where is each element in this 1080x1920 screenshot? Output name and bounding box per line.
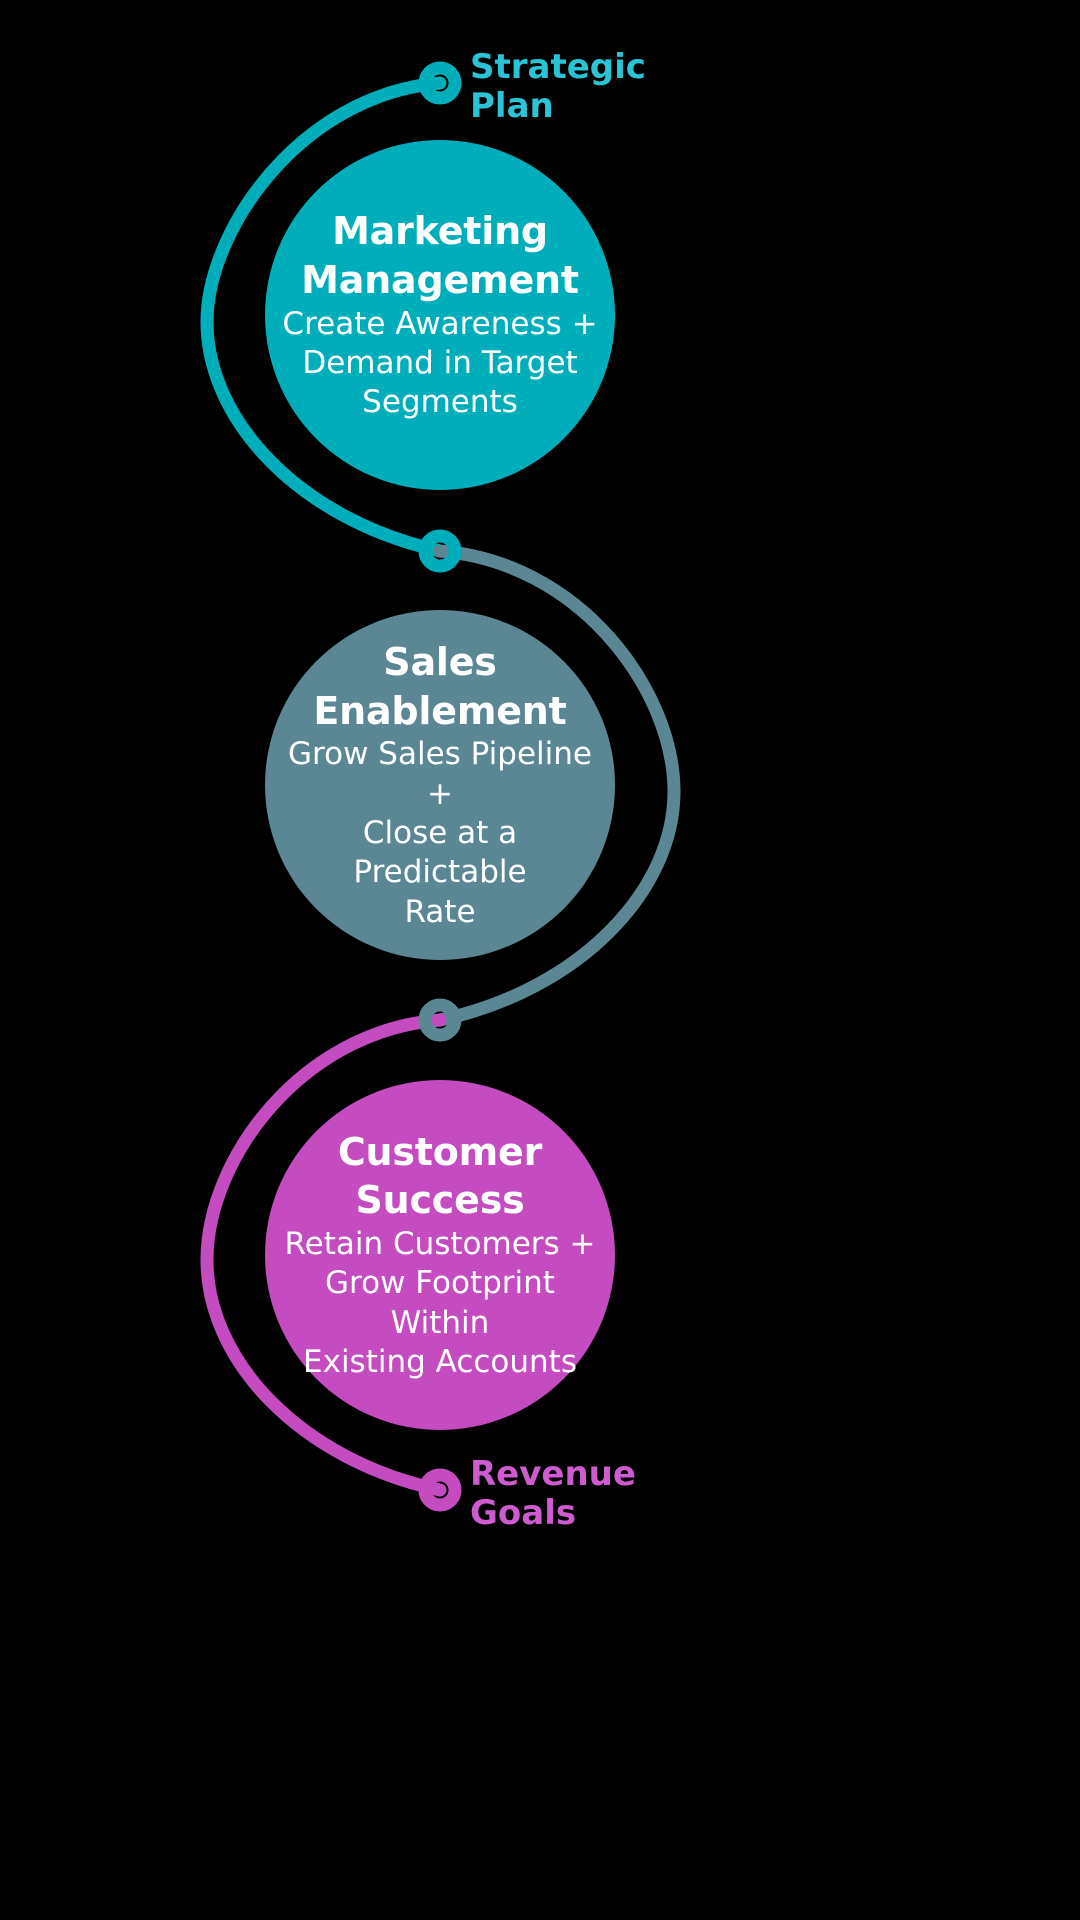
end-label-revenue-goals: Revenue Goals <box>470 1455 760 1534</box>
stage-circle-sales-enablement[interactable]: Sales Enablement Grow Sales Pipeline + C… <box>265 610 615 960</box>
stage-title-sales-enablement: Sales Enablement <box>313 638 566 735</box>
stage-description-sales-enablement: Grow Sales Pipeline + Close at a Predict… <box>265 735 615 932</box>
flow-diagram: Marketing Management Create Awareness + … <box>0 0 1080 1920</box>
stage-description-customer-success: Retain Customers + Grow Footprint Within… <box>265 1225 615 1382</box>
stage-title-customer-success: Customer Success <box>338 1128 542 1225</box>
stage-description-marketing-management: Create Awareness + Demand in Target Segm… <box>270 305 609 423</box>
stage-circle-customer-success[interactable]: Customer Success Retain Customers + Grow… <box>265 1080 615 1430</box>
start-label-strategic-plan: Strategic Plan <box>470 48 760 127</box>
stage-circle-marketing-management[interactable]: Marketing Management Create Awareness + … <box>265 140 615 490</box>
stage-title-marketing-management: Marketing Management <box>301 207 579 304</box>
